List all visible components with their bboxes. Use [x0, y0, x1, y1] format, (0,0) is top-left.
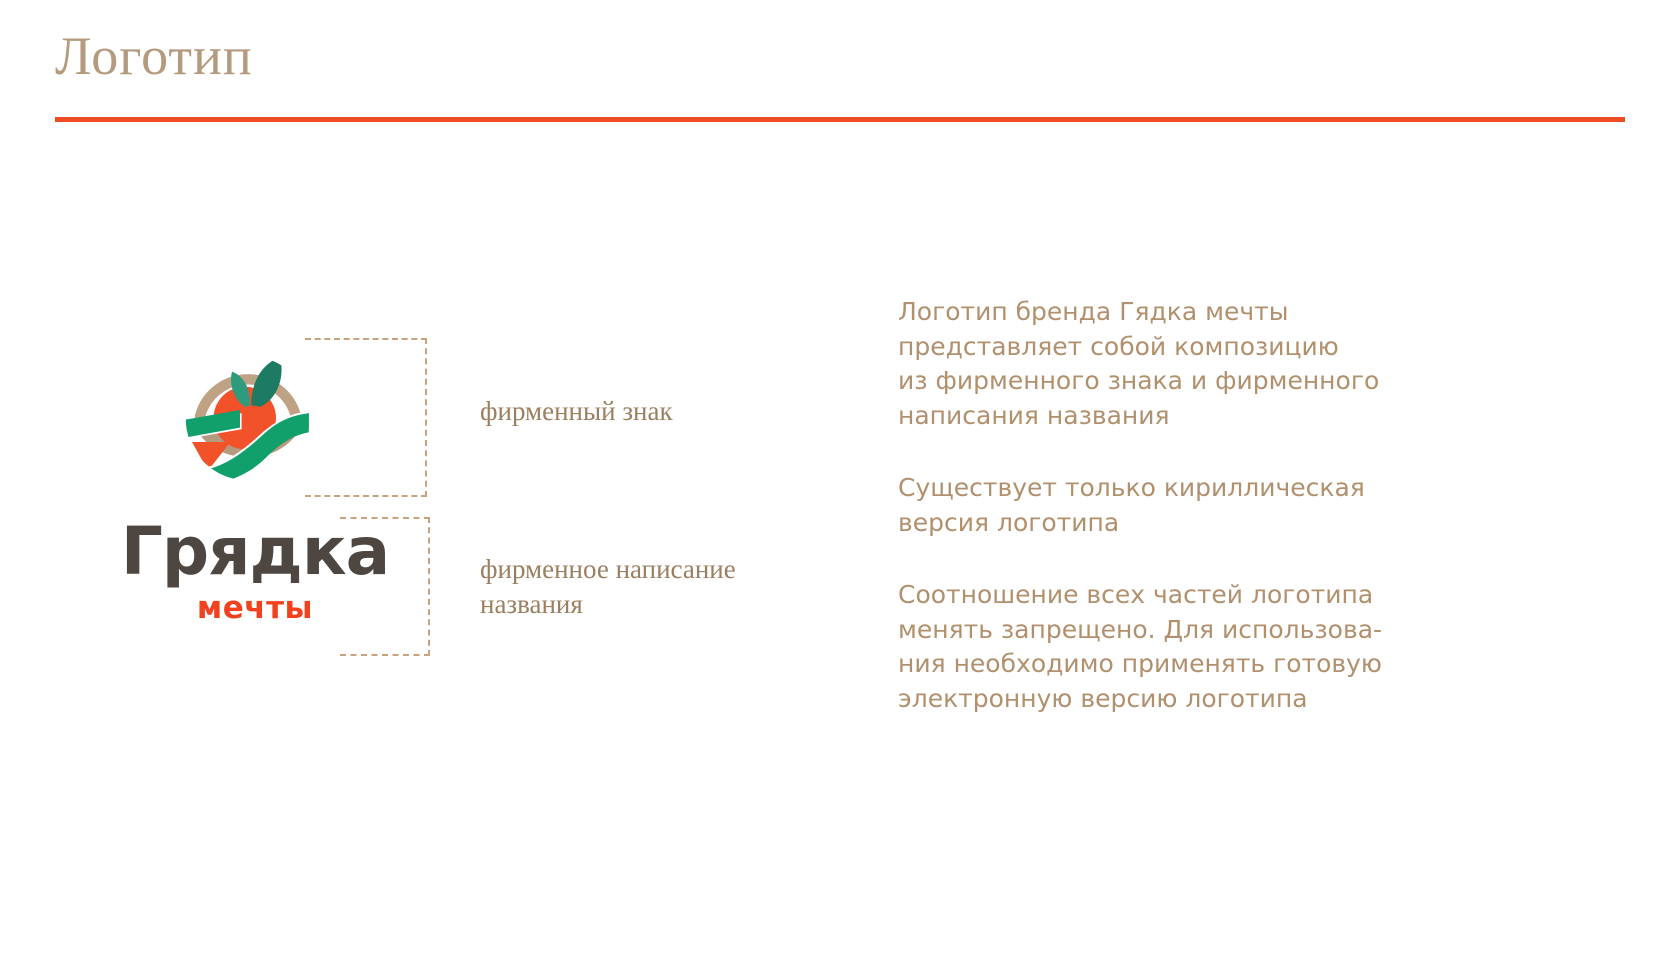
brand-mark-icon: [168, 330, 328, 490]
dashed-bracket-brand-mark: [305, 338, 427, 497]
description-paragraph-3: Соотношение всех частей логотипа менять …: [898, 578, 1458, 716]
page-title: Логотип: [55, 28, 253, 85]
callout-label-wordmark: фирменное написание названия: [480, 552, 830, 622]
slide-canvas: Логотип: [0, 0, 1680, 980]
dashed-bracket-wordmark: [340, 517, 430, 656]
description-paragraph-1: Логотип бренда Гядка мечты представляет …: [898, 295, 1458, 433]
callout-label-brand-mark: фирменный знак: [480, 394, 810, 429]
description-column: Логотип бренда Гядка мечты представляет …: [898, 295, 1458, 716]
description-paragraph-2: Существует только кириллическая версия л…: [898, 471, 1458, 540]
title-divider-rule: [55, 117, 1625, 122]
